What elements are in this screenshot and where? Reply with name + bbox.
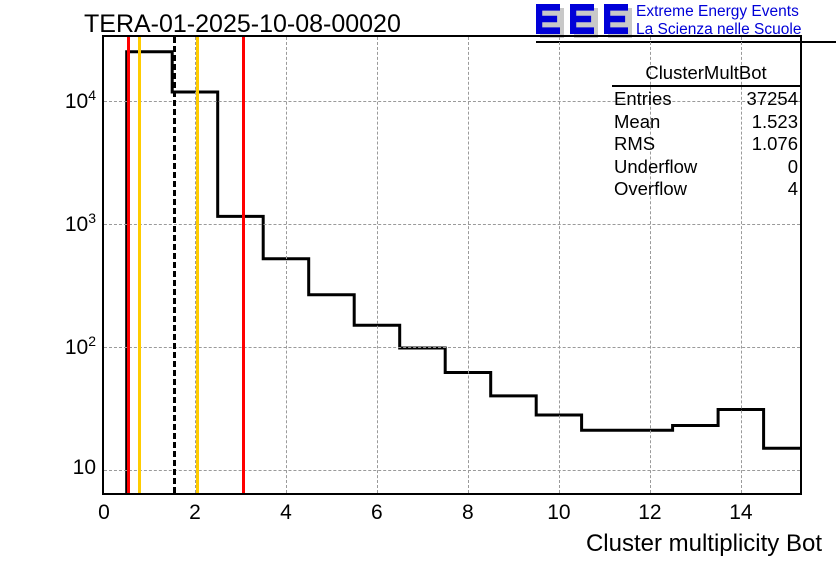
root-canvas: TERA-01-2025-10-08-00020 Extreme Energy …	[0, 0, 836, 572]
marker-line-red-left	[127, 37, 130, 493]
stats-row-rms: RMS1.076	[608, 133, 804, 156]
stats-value-entries: 37254	[747, 88, 798, 111]
stats-value-rms: 1.076	[752, 133, 798, 156]
stats-key-overflow: Overflow	[614, 178, 687, 201]
x-tick-label-14: 14	[729, 501, 752, 525]
stats-key-rms: RMS	[614, 133, 655, 156]
y-tick-label-10000: 104	[12, 87, 96, 114]
gridline-x-4	[286, 37, 287, 493]
marker-line-black-mean	[173, 37, 176, 493]
stats-title: ClusterMultBot	[612, 62, 800, 87]
marker-line-red-right	[242, 37, 245, 493]
x-tick-label-6: 6	[371, 501, 383, 525]
stats-value-mean: 1.523	[752, 111, 798, 134]
gridline-x-6	[377, 37, 378, 493]
marker-line-orange-right	[196, 37, 199, 493]
x-tick-label-2: 2	[189, 501, 201, 525]
stats-row-underflow: Underflow0	[608, 156, 804, 179]
eee-logo-text: Extreme Energy Events La Scienza nelle S…	[636, 3, 801, 39]
x-tick-label-4: 4	[280, 501, 292, 525]
y-tick-label-1000: 103	[12, 210, 96, 237]
stats-value-underflow: 0	[788, 156, 798, 179]
gridline-x-8	[468, 37, 469, 493]
x-axis-title: Cluster multiplicity Bot	[586, 530, 822, 558]
y-tick-label-100: 102	[12, 333, 96, 360]
x-tick-label-8: 8	[462, 501, 474, 525]
gridline-y-100	[104, 347, 800, 348]
stats-row-entries: Entries37254	[608, 88, 804, 111]
stats-rows: Entries37254Mean1.523RMS1.076Underflow0O…	[608, 88, 804, 201]
x-tick-label-10: 10	[547, 501, 570, 525]
stats-key-mean: Mean	[614, 111, 660, 134]
eee-logo-line1: Extreme Energy Events	[636, 3, 801, 21]
stats-key-entries: Entries	[614, 88, 672, 111]
stats-box: ClusterMultBot Entries37254Mean1.523RMS1…	[608, 62, 804, 204]
stats-row-mean: Mean1.523	[608, 111, 804, 134]
y-tick-label-10: 10	[12, 456, 96, 480]
x-tick-label-0: 0	[98, 501, 110, 525]
gridline-y-10	[104, 470, 800, 471]
gridline-x-10	[559, 37, 560, 493]
eee-logo-mark	[536, 4, 632, 38]
x-tick-label-12: 12	[638, 501, 661, 525]
stats-row-overflow: Overflow4	[608, 178, 804, 201]
stats-value-overflow: 4	[788, 178, 798, 201]
gridline-y-1000	[104, 224, 800, 225]
stats-key-underflow: Underflow	[614, 156, 697, 179]
marker-line-orange-left	[138, 37, 141, 493]
